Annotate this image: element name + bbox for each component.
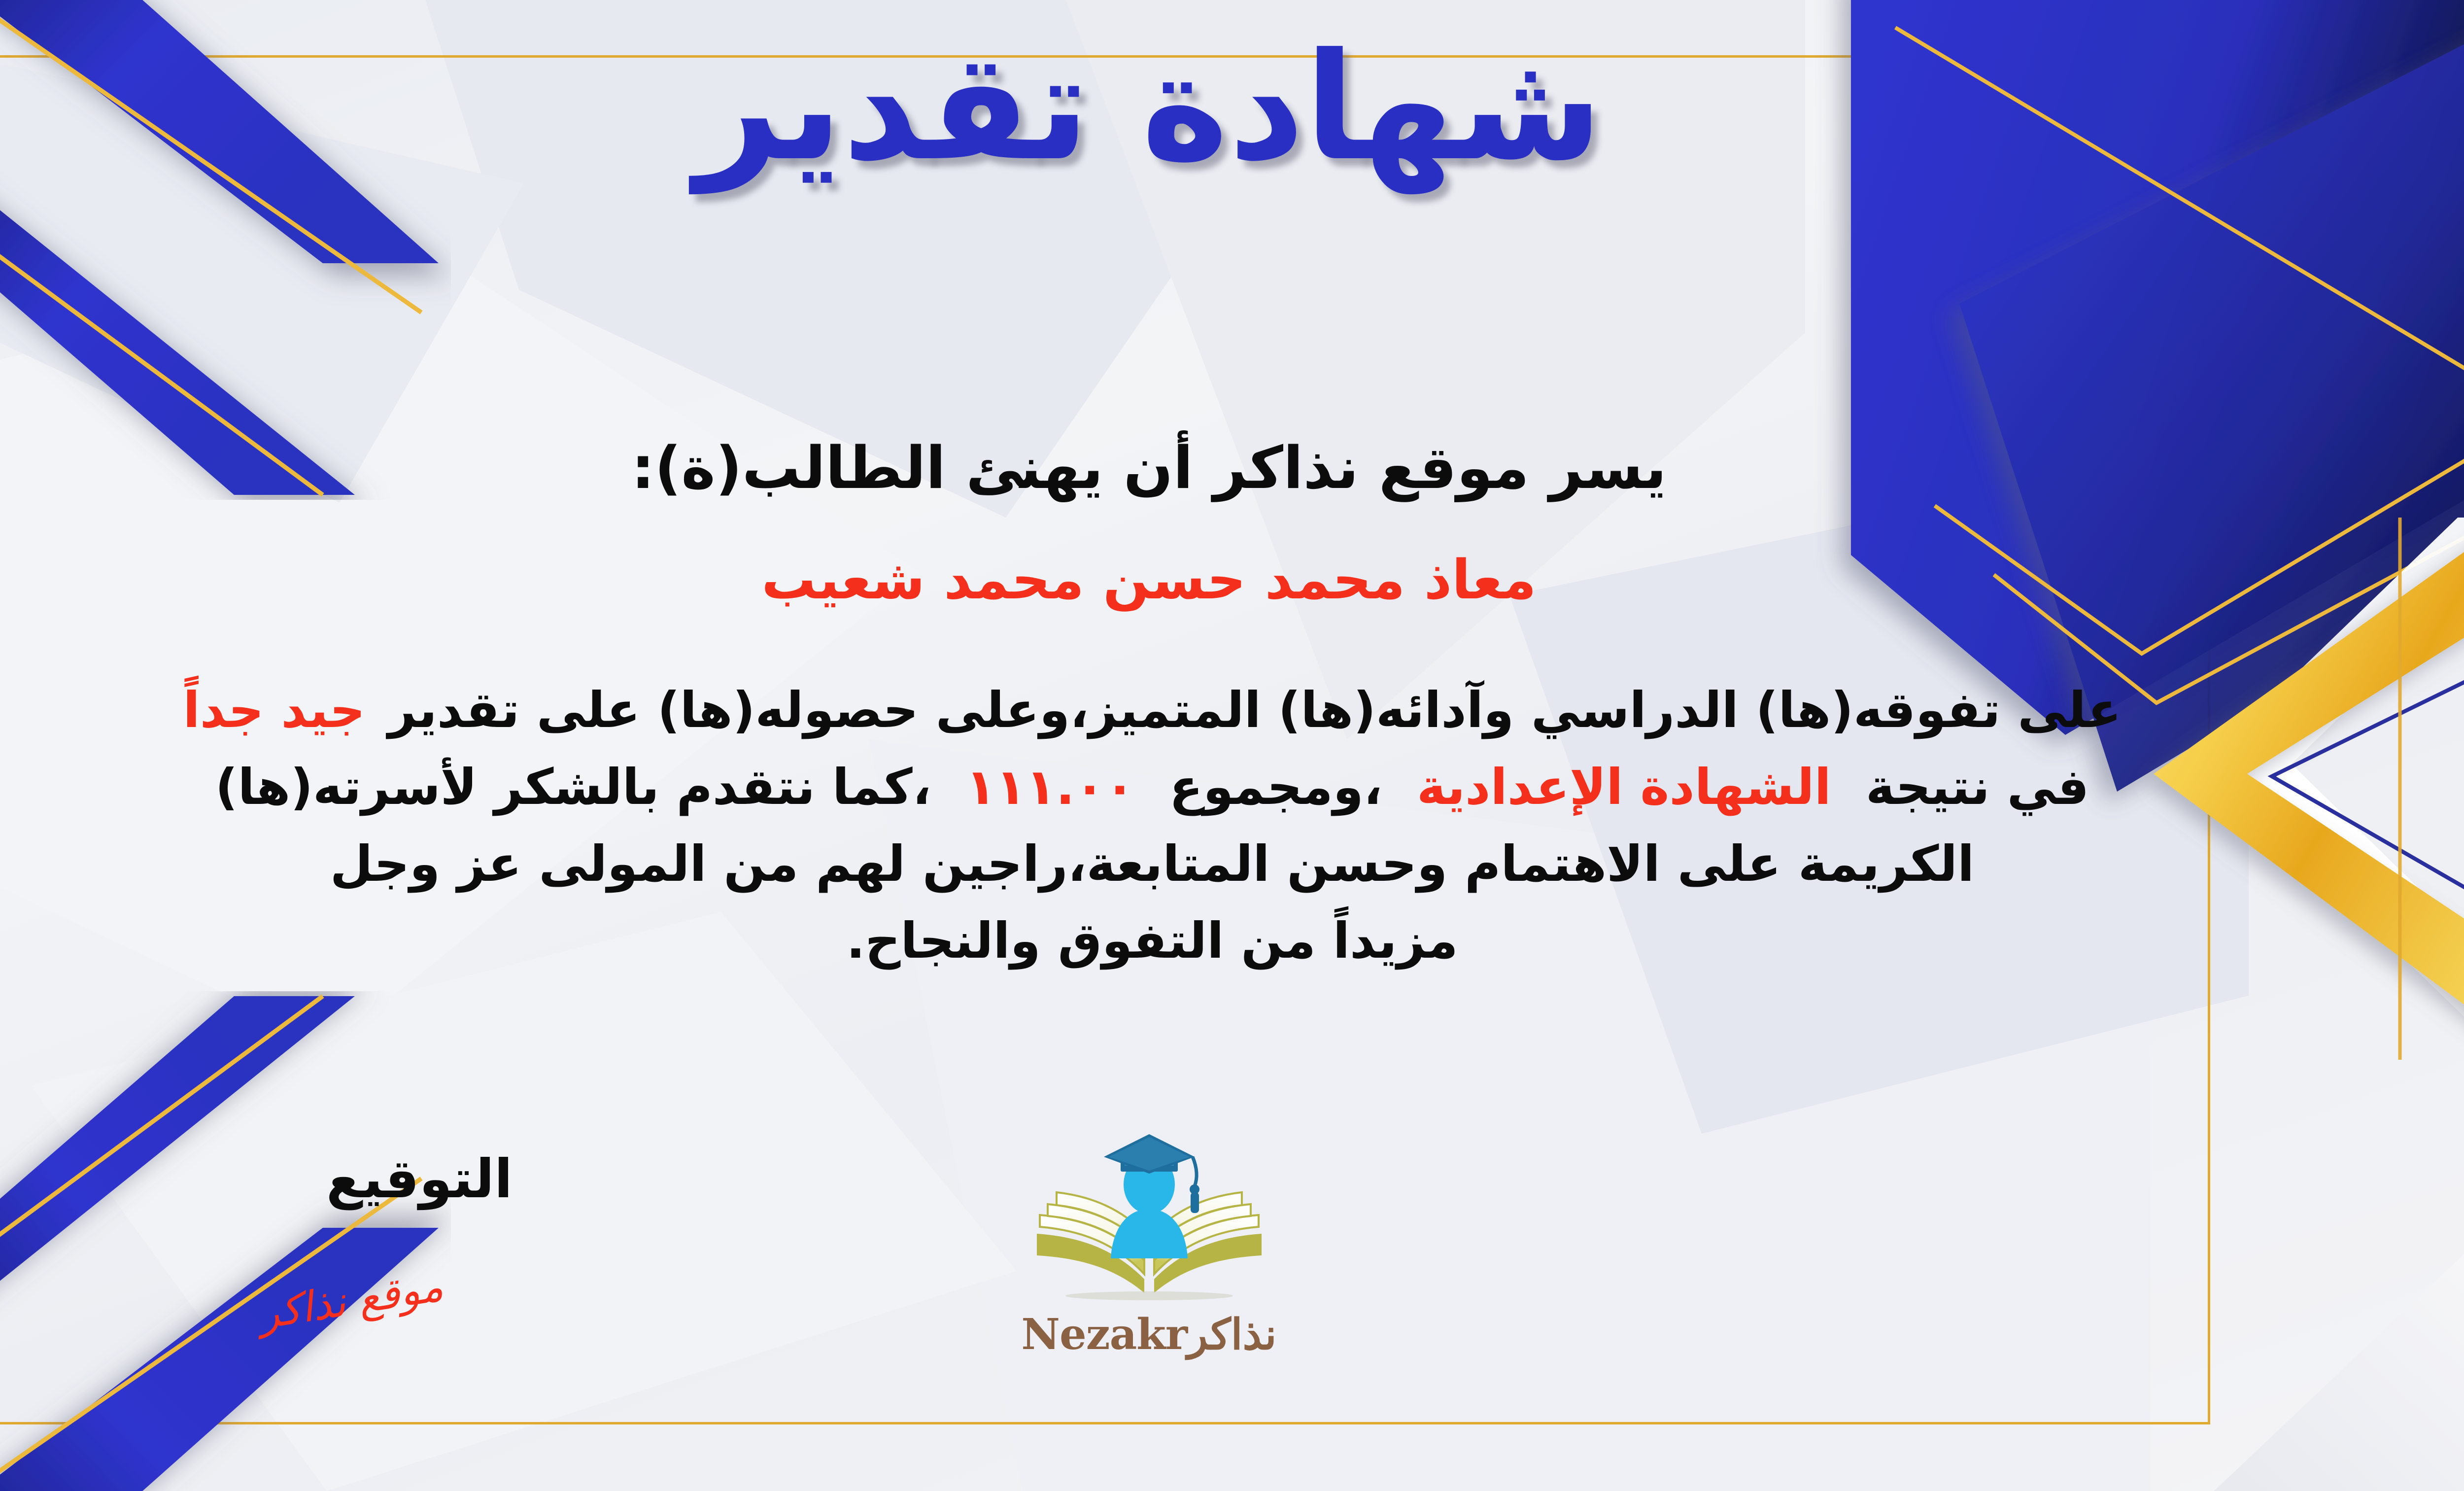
brand-logo: نذاكرNezakr: [972, 1126, 1327, 1359]
student-name: معاذ محمد حسن محمد شعيب: [0, 548, 2464, 611]
greeting-line: يسر موقع نذاكر أن يهنئ الطالب(ة):: [0, 434, 2464, 502]
signature-mark: موقع نذاكر: [255, 1262, 446, 1339]
body-line-1-text: على تفوقه(ها) الدراسي وآدائه(ها) المتميز…: [388, 681, 2121, 739]
certificate-content: شهادة تقدير يسر موقع نذاكر أن يهنئ الطال…: [0, 0, 2464, 1491]
body-line-2: في نتيجةالشهادة الإعدادية،ومجموع١١١.٠٠،ك…: [0, 752, 2332, 822]
body-line-4: مزيداً من التفوق والنجاح.: [0, 906, 2332, 976]
logo-wordmark: نذاكرNezakr: [972, 1310, 1327, 1359]
certificate-canvas: شهادة تقدير يسر موقع نذاكر أن يهنئ الطال…: [0, 0, 2464, 1491]
body-line-2-prefix: في نتيجة: [1866, 758, 2089, 816]
body-line-3: الكريمة على الاهتمام وحسن المتابعة،راجين…: [0, 829, 2332, 899]
exam-name: الشهادة الإعدادية: [1417, 758, 1831, 816]
graduate-book-logo-icon: [1011, 1126, 1287, 1314]
certificate-body: على تفوقه(ها) الدراسي وآدائه(ها) المتميز…: [0, 675, 2332, 983]
total-score: ١١١.٠٠: [966, 758, 1135, 816]
body-line-2-suffix: ،كما نتقدم بالشكر لأسرته(ها): [215, 758, 931, 816]
body-line-1: على تفوقه(ها) الدراسي وآدائه(ها) المتميز…: [0, 675, 2332, 745]
body-line-2-mid: ،ومجموع: [1169, 758, 1382, 816]
certificate-title: شهادة تقدير: [0, 30, 2464, 185]
grade-value: جيد جداً: [183, 681, 365, 739]
signature-label: التوقيع: [326, 1148, 513, 1210]
